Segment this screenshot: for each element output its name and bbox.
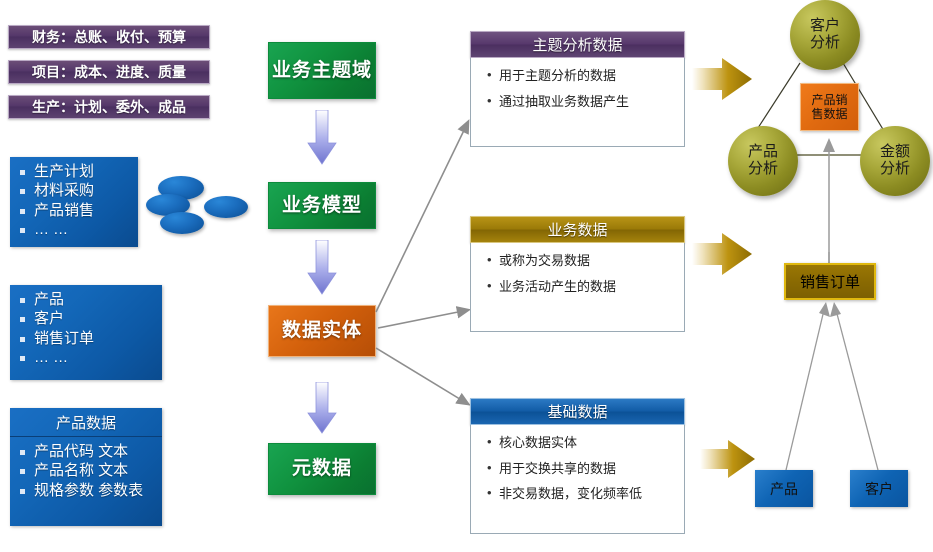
gold-arrow-1 (692, 58, 752, 100)
card-business-data-title: 业务数据 (547, 219, 607, 240)
box-product-sales-data-line1: 产品销 (811, 93, 847, 107)
list-item: 产品名称 文本 (20, 462, 162, 480)
box-product-sales-data: 产品销 售数据 (800, 83, 859, 131)
card-business-data: 业务数据 或称为交易数据 业务活动产生的数据 (470, 216, 685, 309)
gold-arrow-3 (700, 440, 755, 478)
box-product-label: 产品 (770, 479, 798, 499)
list-item: 产品代码 文本 (20, 443, 162, 461)
list-item: 非交易数据，变化频率低 (487, 486, 674, 502)
sphere-product-analysis-line2: 分析 (748, 161, 778, 178)
chip-metadata-label: 元数据 (292, 458, 352, 480)
list-item: … … (20, 349, 162, 367)
box-customer-label: 客户 (865, 479, 893, 499)
chip-business-model: 业务模型 (268, 182, 376, 229)
card-topic-analysis-data: 主题分析数据 用于主题分析的数据 通过抽取业务数据产生 (470, 31, 685, 124)
sphere-amount-analysis-line1: 金额 (880, 144, 910, 161)
list-item: 业务活动产生的数据 (487, 279, 674, 295)
list-item: 材料采购 (20, 182, 138, 200)
list-item: 核心数据实体 (487, 435, 674, 451)
chip-business-domain-label: 业务主题域 (272, 60, 372, 82)
sphere-customer-analysis: 客户 分析 (790, 0, 860, 70)
list-item: 或称为交易数据 (487, 253, 674, 269)
diagram-canvas: 财务：总账、收付、预算 项目：成本、进度、质量 生产：计划、委外、成品 生产计划… (0, 0, 933, 552)
data-ellipse (160, 212, 204, 234)
card-business-data-body: 或称为交易数据 业务活动产生的数据 (470, 243, 685, 332)
card-business-data-header: 业务数据 (470, 216, 685, 243)
gold-arrow-2 (692, 233, 752, 275)
list-item: 用于交换共享的数据 (487, 461, 674, 477)
box-sales-order-label: 销售订单 (800, 271, 860, 292)
sphere-customer-analysis-line2: 分析 (810, 35, 840, 52)
card-base-data: 基础数据 核心数据实体 用于交换共享的数据 非交易数据，变化频率低 (470, 398, 685, 511)
banner-production-label: 生产：计划、委外、成品 (32, 97, 186, 117)
arrow-model-to-entity (307, 240, 337, 295)
list-item: 客户 (20, 310, 162, 328)
data-ellipse (204, 196, 248, 218)
sphere-customer-analysis-line1: 客户 (810, 18, 840, 35)
chip-metadata: 元数据 (268, 443, 376, 495)
box-sales-order: 销售订单 (784, 263, 876, 300)
card-topic-analysis-body: 用于主题分析的数据 通过抽取业务数据产生 (470, 58, 685, 147)
card-topic-analysis-header: 主题分析数据 (470, 31, 685, 58)
list-item: 规格参数 参数表 (20, 482, 162, 500)
sphere-product-analysis: 产品 分析 (728, 126, 798, 196)
chip-data-entity: 数据实体 (268, 305, 376, 357)
banner-finance-label: 财务：总账、收付、预算 (32, 27, 186, 47)
card-topic-analysis-title: 主题分析数据 (532, 34, 622, 55)
sphere-product-analysis-line1: 产品 (748, 144, 778, 161)
list-item: 通过抽取业务数据产生 (487, 94, 674, 110)
box-product-sales-data-line2: 售数据 (811, 107, 847, 121)
list-item: … … (20, 221, 138, 239)
sphere-amount-analysis-line2: 分析 (880, 161, 910, 178)
box-customer: 客户 (850, 470, 908, 507)
list-item: 销售订单 (20, 330, 162, 348)
list-item: 用于主题分析的数据 (487, 68, 674, 84)
banner-project-label: 项目：成本、进度、质量 (32, 62, 186, 82)
product-data-panel-title: 产品数据 (10, 408, 162, 437)
sphere-amount-analysis: 金额 分析 (860, 126, 930, 196)
business-activity-panel: 生产计划 材料采购 产品销售 … … (10, 157, 138, 247)
list-item: 产品 (20, 291, 162, 309)
card-base-data-title: 基础数据 (547, 401, 607, 422)
box-product: 产品 (755, 470, 813, 507)
banner-production: 生产：计划、委外、成品 (8, 95, 210, 119)
card-base-data-header: 基础数据 (470, 398, 685, 425)
card-base-data-body: 核心数据实体 用于交换共享的数据 非交易数据，变化频率低 (470, 425, 685, 534)
arrow-entity-to-metadata (307, 382, 337, 434)
banner-project: 项目：成本、进度、质量 (8, 60, 210, 84)
chip-data-entity-label: 数据实体 (282, 320, 362, 342)
chip-business-domain: 业务主题域 (268, 42, 376, 99)
list-item: 产品销售 (20, 202, 138, 220)
entity-panel: 产品 客户 销售订单 … … (10, 285, 162, 380)
product-data-panel: 产品数据 产品代码 文本 产品名称 文本 规格参数 参数表 (10, 408, 162, 526)
list-item: 生产计划 (20, 163, 138, 181)
banner-finance: 财务：总账、收付、预算 (8, 25, 210, 49)
arrow-domain-to-model (307, 110, 337, 165)
chip-business-model-label: 业务模型 (282, 195, 362, 217)
